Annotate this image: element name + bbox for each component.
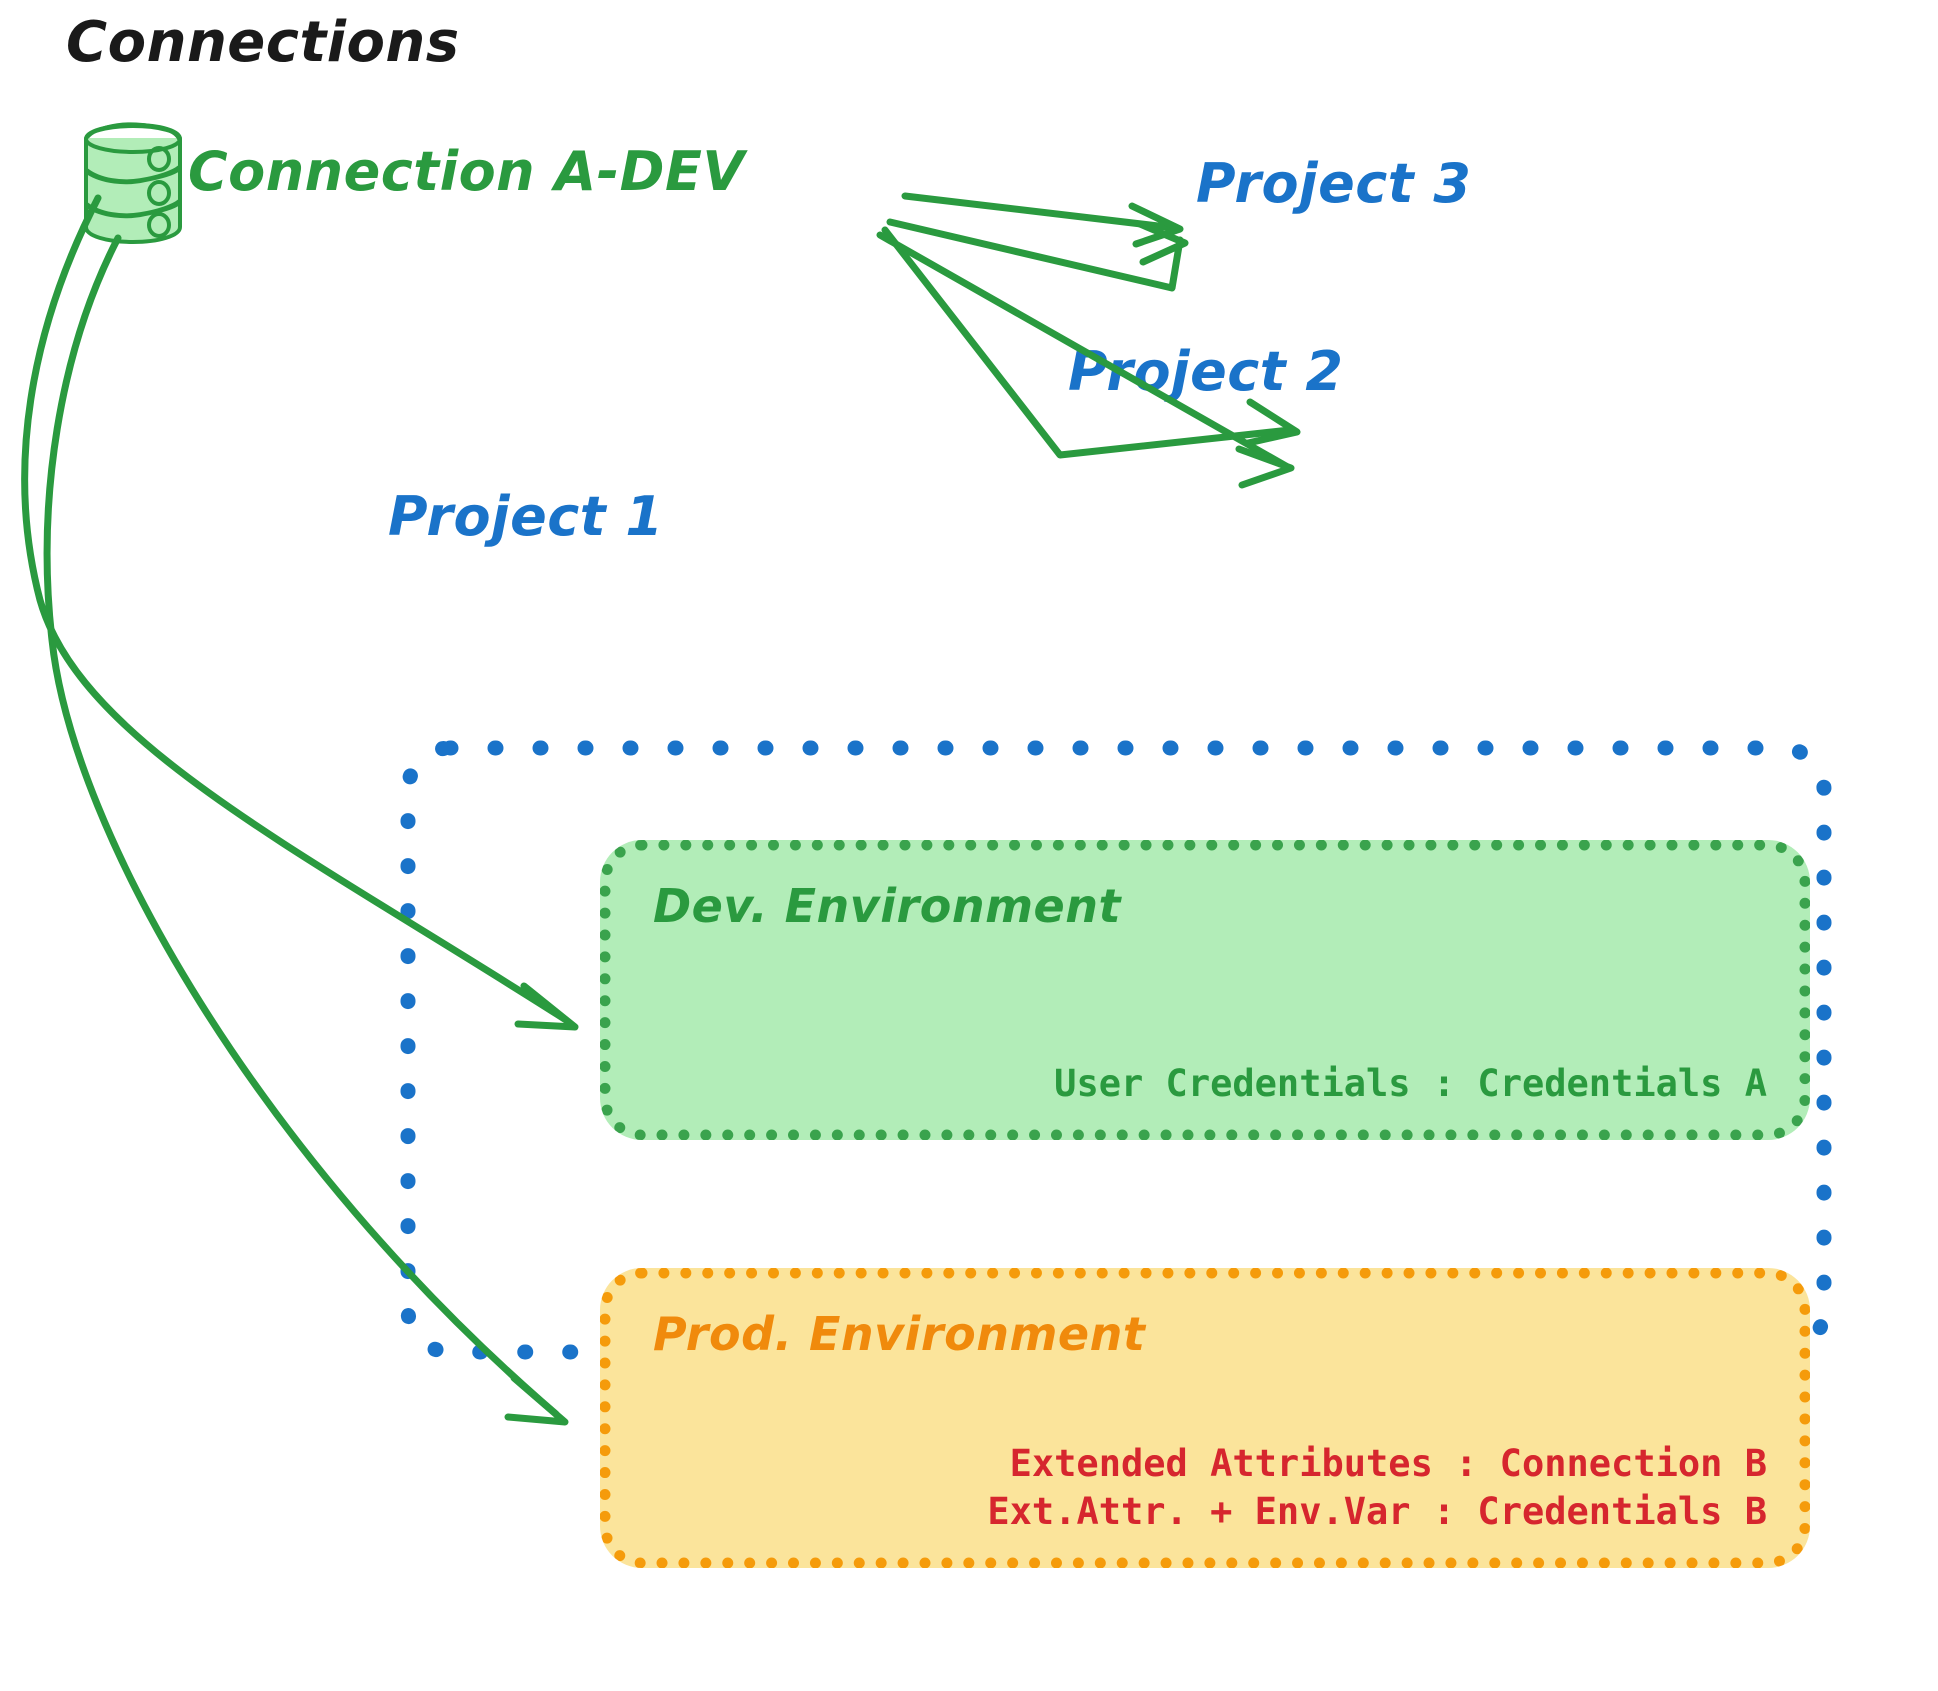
prod-environment-title: Prod. Environment — [653, 1307, 1145, 1361]
database-icon — [78, 120, 188, 245]
dev-environment-title: Dev. Environment — [653, 879, 1121, 933]
dev-environment-box[interactable]: Dev. Environment User Credentials : Cred… — [600, 840, 1810, 1140]
connection-a-dev-label[interactable]: Connection A-DEV — [188, 140, 745, 203]
prod-environment-box[interactable]: Prod. Environment Extended Attributes : … — [600, 1268, 1810, 1568]
page-title: Connections — [66, 10, 460, 75]
diagram-canvas: Connections Connection A-DEV Project 3 P… — [0, 0, 1938, 1691]
prod-attribute-line-2: Ext.Attr. + Env.Var : Credentials B — [987, 1488, 1767, 1535]
prod-attribute-line-1: Extended Attributes : Connection B — [987, 1440, 1767, 1487]
dev-attribute-line: User Credentials : Credentials A — [1054, 1060, 1767, 1107]
project-1-label[interactable]: Project 1 — [388, 485, 663, 548]
prod-environment-attributes: Extended Attributes : Connection B Ext.A… — [987, 1440, 1767, 1535]
dev-environment-attributes: User Credentials : Credentials A — [1054, 1060, 1767, 1107]
project-3-label[interactable]: Project 3 — [1196, 152, 1471, 215]
project-2-label[interactable]: Project 2 — [1068, 340, 1343, 403]
